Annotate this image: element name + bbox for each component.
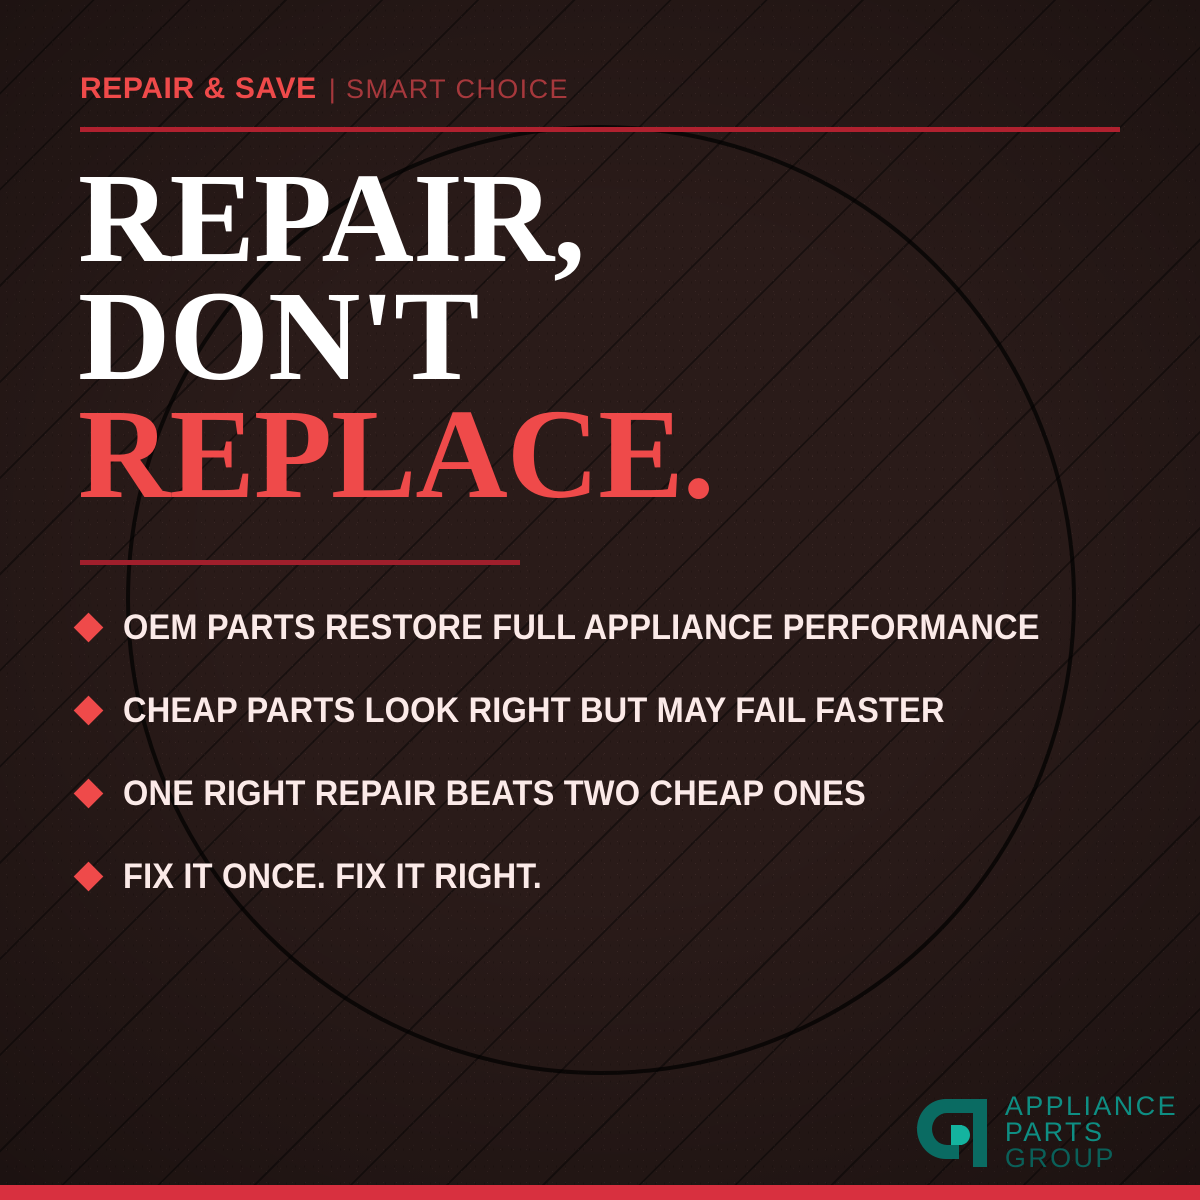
benefit-list: OEM PARTS RESTORE FULL APPLIANCE PERFORM… [78,586,1158,918]
list-item: OEM PARTS RESTORE FULL APPLIANCE PERFORM… [78,586,1158,669]
list-item: ONE RIGHT REPAIR BEATS TWO CHEAP ONES [78,752,1158,835]
headline-divider-rule [80,560,520,565]
logo-wordmark: APPLIANCE PARTS GROUP [1005,1094,1178,1172]
brand-logo: APPLIANCE PARTS GROUP [913,1094,1178,1172]
eyebrow-sub-label: | SMART CHOICE [329,74,569,104]
diamond-bullet-icon [74,613,104,643]
list-item-label: FIX IT ONCE. FIX IT RIGHT. [123,857,542,897]
bottom-accent-bar [0,1185,1200,1200]
eyebrow-main-label: REPAIR & SAVE [80,72,317,105]
list-item: FIX IT ONCE. FIX IT RIGHT. [78,835,1158,918]
list-item-label: ONE RIGHT REPAIR BEATS TWO CHEAP ONES [123,774,866,814]
diamond-bullet-icon [74,696,104,726]
eyebrow-header: REPAIR & SAVE| SMART CHOICE [80,74,569,104]
headline-line-1: REPAIR, [78,160,714,278]
list-item-label: OEM PARTS RESTORE FULL APPLIANCE PERFORM… [123,608,1040,648]
poster-canvas: REPAIR & SAVE| SMART CHOICE REPAIR, DON'… [0,0,1200,1200]
diamond-bullet-icon [74,779,104,809]
headline-line-2: DON'T [78,278,714,396]
list-item-label: CHEAP PARTS LOOK RIGHT BUT MAY FAIL FAST… [123,691,945,731]
logo-line-3: GROUP [1005,1146,1178,1172]
header-divider-rule [80,127,1120,132]
diamond-bullet-icon [74,862,104,892]
headline: REPAIR, DON'T REPLACE. [78,160,714,513]
list-item: CHEAP PARTS LOOK RIGHT BUT MAY FAIL FAST… [78,669,1158,752]
g-mark-icon [913,1095,991,1171]
headline-line-3: REPLACE. [78,396,714,514]
